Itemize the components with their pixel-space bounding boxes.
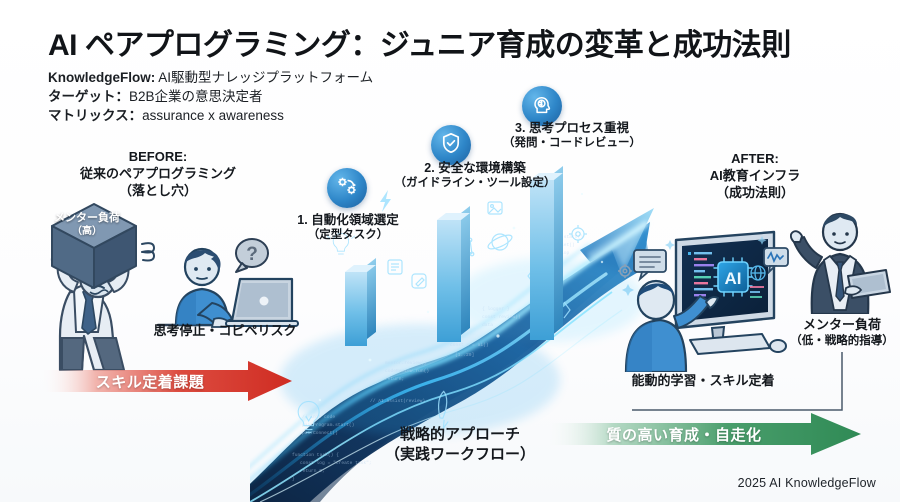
step-1-badge <box>327 168 367 208</box>
svg-text:const review(): const review() <box>482 314 521 320</box>
svg-text:[1..20]: [1..20] <box>455 352 474 358</box>
svg-text:data: data <box>482 322 493 328</box>
step-3-subtitle: （発問・コードレビュー） <box>472 136 672 151</box>
step-2-label: 2. 安全な環境構築 （ガイドライン・ツール設定） <box>375 160 575 191</box>
cube-label-line-2: （高） <box>32 225 142 238</box>
ascending-bar-2 <box>437 220 461 342</box>
head-brain-icon <box>530 92 554 121</box>
step-2-subtitle: （ガイドライン・ツール設定） <box>375 176 575 191</box>
subtitle-line-1-rest: AI駆動型ナレッジプラットフォーム <box>155 70 373 85</box>
infographic-canvas: AI ペアプログラミング：ジュニア育成の変革と成功法則 KnowledgeFlo… <box>0 0 900 502</box>
mentor-after-line-2: （低・戦略的指導） <box>762 333 900 350</box>
svg-text:?: ? <box>246 244 258 265</box>
shield-check-icon <box>439 131 463 160</box>
before-heading: BEFORE: 従来のペアプログラミング （落とし穴） <box>38 148 278 199</box>
bar-side <box>554 166 563 333</box>
before-heading-line-2: 従来のペアプログラミング <box>38 165 278 182</box>
cube-label-line-1: メンター負荷 <box>32 212 142 225</box>
svg-text:pairConnect(): pairConnect() <box>302 430 338 436</box>
bar-face <box>345 272 367 346</box>
quality-growth-arrow-label: 質の高い育成・自走化 <box>525 424 843 445</box>
ascending-bar-1 <box>345 272 367 346</box>
mentor-load-cube-label: メンター負荷 （高） <box>32 212 142 238</box>
flow-approach-line-1: 戦略的アプローチ <box>380 425 540 445</box>
step-2-title: 2. 安全な環境構築 <box>375 160 575 176</box>
subtitle-line-1: KnowledgeFlow: AI駆動型ナレッジプラットフォーム <box>48 68 373 87</box>
svg-text:// AI.assist(review): // AI.assist(review) <box>370 398 425 404</box>
subtitle-line-1-bold: KnowledgeFlow: <box>48 70 155 85</box>
bar-face <box>530 180 554 340</box>
mentor-after-label: メンター負荷 （低・戦略的指導） <box>762 316 900 350</box>
after-heading: AFTER: AI教育インフラ （成功法則） <box>670 150 840 201</box>
svg-text:}: } <box>292 476 295 482</box>
bar-face <box>437 220 461 342</box>
subtitle-block: KnowledgeFlow: AI駆動型ナレッジプラットフォーム ターゲット：B… <box>48 68 373 125</box>
subtitle-line-2-rest: B2B企業の意思決定者 <box>129 89 263 104</box>
page-title: AI ペアプログラミング：ジュニア育成の変革と成功法則 <box>48 20 791 64</box>
skill-challenge-arrow: スキル定着課題 <box>40 361 292 401</box>
after-heading-line-1: AFTER: <box>670 150 840 167</box>
bar-side <box>461 206 470 335</box>
ai-chip-label: AI <box>725 269 742 288</box>
flow-approach-label: 戦略的アプローチ （実践ワークフロー） <box>380 425 540 465</box>
gears-cycle-icon <box>335 174 359 203</box>
step-3-label: 3. 思考プロセス重視 （発問・コードレビュー） <box>472 120 672 151</box>
ascending-bar-3 <box>530 180 554 340</box>
svg-text:codeReview.run(): codeReview.run() <box>385 368 429 374</box>
svg-text:return;: return; <box>385 376 404 382</box>
before-heading-line-1: BEFORE: <box>38 148 278 165</box>
subtitle-line-3: マトリックス：assurance x awareness <box>48 106 373 125</box>
mentor-after-line-1: メンター負荷 <box>762 316 900 333</box>
step-2-badge <box>431 125 471 165</box>
subtitle-line-3-rest: assurance x awareness <box>142 108 284 123</box>
step-3-title: 3. 思考プロセス重視 <box>472 120 672 136</box>
after-heading-line-2: AI教育インフラ <box>670 167 840 184</box>
junior-at-laptop-illustration: ? <box>152 225 302 335</box>
svg-text:{ logger }: { logger } <box>482 306 510 312</box>
before-caption-text: 思考停止・コピペリスク <box>130 322 320 339</box>
svg-text:return 0;: return 0; <box>300 468 325 474</box>
svg-text:pairProgram.start(): pairProgram.start() <box>302 422 354 428</box>
before-caption: 思考停止・コピペリスク <box>130 322 320 339</box>
flow-approach-line-2: （実践ワークフロー） <box>380 445 540 465</box>
strategic-mentor-illustration <box>790 196 895 314</box>
quality-growth-arrow: 質の高い育成・自走化 <box>543 413 861 455</box>
subtitle-line-2-bold: ターゲット： <box>48 89 129 104</box>
svg-text:function task() {: function task() { <box>292 452 339 458</box>
footer-credit: 2025 AI KnowledgeFlow <box>738 476 876 490</box>
skill-challenge-arrow-label: スキル定着課題 <box>24 371 276 392</box>
subtitle-line-3-bold: マトリックス： <box>48 108 142 123</box>
subtitle-line-2: ターゲット：B2B企業の意思決定者 <box>48 87 373 106</box>
svg-text:const log = "create task";: const log = "create task"; <box>300 460 372 466</box>
svg-text:const x = ai(): const x = ai() <box>450 342 489 348</box>
svg-text:mentor.review(): mentor.review() <box>385 360 426 366</box>
